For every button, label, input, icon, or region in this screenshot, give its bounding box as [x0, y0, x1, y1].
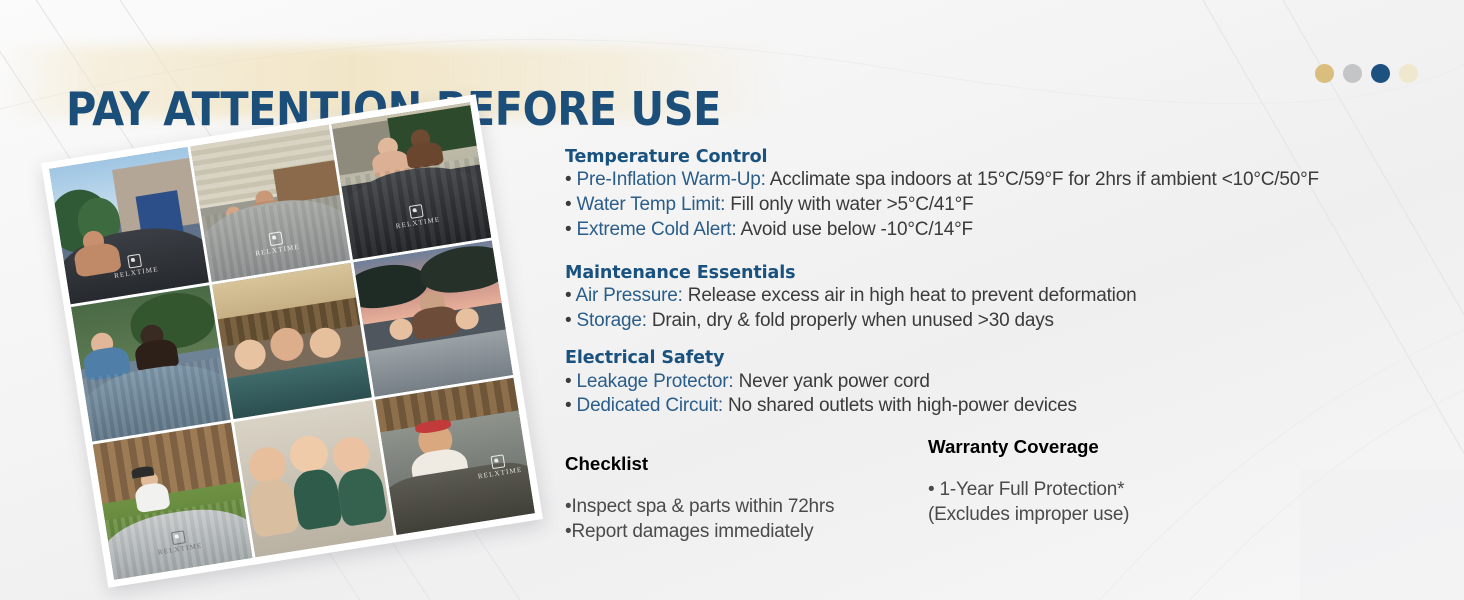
dot-navy-icon: [1371, 64, 1390, 83]
bullet-text: Report damages immediately: [571, 521, 813, 542]
bullet-item: • Dedicated Circuit: No shared outlets w…: [565, 394, 1455, 419]
photo-collage: RELXTIME RELXTIME: [72, 126, 542, 581]
section-heading: Warranty Coverage: [928, 436, 1358, 458]
bullet-label: Leakage Protector:: [577, 371, 734, 392]
section-heading: Maintenance Essentials: [565, 262, 1455, 284]
bullet-item: •Inspect spa & parts within 72hrs: [565, 494, 928, 519]
bullet-dot: •: [565, 285, 571, 306]
bullet-item: • 1-Year Full Protection*: [928, 477, 1358, 502]
bullet-item: • Extreme Cold Alert: Avoid use below -1…: [565, 218, 1455, 243]
collage-photo: [212, 263, 372, 420]
bullet-text: 1-Year Full Protection*: [940, 479, 1125, 500]
collage-photo: RELXTIME: [375, 378, 535, 535]
bullet-text: Avoid use below -10°C/14°F: [740, 219, 973, 240]
color-swatch-dots: [1315, 64, 1418, 83]
bullet-label: Storage:: [577, 310, 647, 331]
bullet-label: Pre-Inflation Warm-Up:: [577, 169, 766, 190]
section-temperature-control: Temperature Control • Pre-Inflation Warm…: [565, 146, 1455, 243]
spacer: [565, 334, 1455, 347]
photo-collage-frame: RELXTIME RELXTIME: [41, 94, 543, 588]
bullet-dot: •: [565, 310, 571, 331]
bullet-label: Extreme Cold Alert:: [577, 219, 737, 240]
section-heading: Temperature Control: [565, 146, 1455, 168]
bullet-dot: •: [565, 219, 571, 240]
bullet-item: • Pre-Inflation Warm-Up: Acclimate spa i…: [565, 168, 1455, 193]
spacer: [565, 419, 1455, 434]
bullet-dot: •: [565, 395, 571, 416]
section-warranty-coverage: Warranty Coverage • 1-Year Full Protecti…: [928, 434, 1358, 544]
promo-banner: PAY ATTENTION BEFORE USE RELXTIME: [0, 0, 1464, 600]
bullet-text: No shared outlets with high-power device…: [728, 395, 1077, 416]
collage-photo: [71, 285, 231, 442]
collage-photo: RELXTIME: [332, 102, 492, 259]
spacer: [565, 243, 1455, 262]
section-electrical-safety: Electrical Safety • Leakage Protector: N…: [565, 347, 1455, 419]
bottom-columns: Checklist •Inspect spa & parts within 72…: [565, 434, 1455, 544]
collage-photo: RELXTIME: [93, 423, 253, 580]
bullet-text: Drain, dry & fold properly when unused >…: [652, 310, 1054, 331]
bullet-text: Acclimate spa indoors at 15°C/59°F for 2…: [770, 169, 1319, 190]
dot-cream-icon: [1399, 64, 1418, 83]
bullet-dot: •: [565, 194, 571, 215]
section-heading: Electrical Safety: [565, 347, 1455, 369]
collage-photo: [234, 400, 394, 557]
bullet-label: Dedicated Circuit:: [577, 395, 723, 416]
bullet-label: Air Pressure:: [575, 285, 682, 306]
bullet-dot: •: [928, 479, 934, 500]
section-maintenance-essentials: Maintenance Essentials • Air Pressure: R…: [565, 262, 1455, 334]
collage-photo: [353, 240, 513, 397]
bullet-label: Water Temp Limit:: [577, 194, 726, 215]
bullet-dot: •: [565, 371, 571, 392]
section-heading: Checklist: [565, 453, 928, 475]
bullet-text: Fill only with water >5°C/41°F: [730, 194, 973, 215]
bullet-text: Inspect spa & parts within 72hrs: [571, 496, 834, 517]
bullet-dot: •: [565, 169, 571, 190]
bullet-text: Never yank power cord: [739, 371, 930, 392]
warranty-note: (Excludes improper use): [928, 502, 1358, 527]
bullet-item: • Storage: Drain, dry & fold properly wh…: [565, 309, 1455, 334]
bullet-item: •Report damages immediately: [565, 519, 928, 544]
collage-photo: RELXTIME: [190, 125, 350, 282]
dot-silver-icon: [1343, 64, 1362, 83]
dot-gold-icon: [1315, 64, 1334, 83]
bullet-text: Release excess air in high heat to preve…: [688, 285, 1137, 306]
collage-photo: RELXTIME: [49, 147, 209, 304]
instructions-content: Temperature Control • Pre-Inflation Warm…: [565, 146, 1455, 544]
bullet-item: • Air Pressure: Release excess air in hi…: [565, 284, 1455, 309]
section-checklist: Checklist •Inspect spa & parts within 72…: [565, 434, 928, 544]
bullet-item: • Water Temp Limit: Fill only with water…: [565, 193, 1455, 218]
bullet-item: • Leakage Protector: Never yank power co…: [565, 370, 1455, 395]
